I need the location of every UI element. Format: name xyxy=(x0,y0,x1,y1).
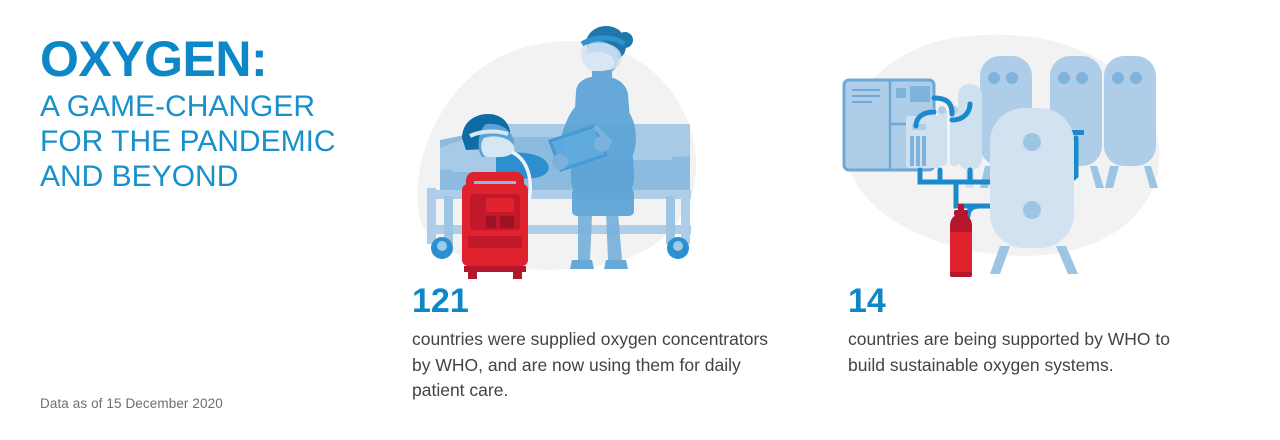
hospital-bed-oxygen-concentrator-illustration xyxy=(400,20,720,285)
oxygen-concentrator xyxy=(462,172,528,279)
vessel-port-lower xyxy=(1023,201,1041,219)
concentrator-grill xyxy=(468,236,522,248)
subtitle-line-2: FOR THE PANDEMIC xyxy=(40,124,380,159)
page-subtitle: A GAME-CHANGER FOR THE PANDEMIC AND BEYO… xyxy=(40,89,380,194)
tank-1-gauge-left xyxy=(988,72,1000,84)
vessel-leg-right xyxy=(1056,246,1078,274)
tank-2-gauge-left xyxy=(1058,72,1070,84)
cylinder-body xyxy=(950,232,972,276)
concentrator-base xyxy=(464,266,526,272)
filter-column-2 xyxy=(938,108,947,166)
tank-3-gauge-left xyxy=(1112,72,1124,84)
filter-column-3 xyxy=(950,108,959,166)
stat-number-14: 14 xyxy=(848,284,1178,318)
cylinder-base xyxy=(950,272,972,277)
stat-text-oxygen-systems: countries are being supported by WHO to … xyxy=(848,327,1178,378)
stat-block-concentrators: 121 countries were supplied oxygen conce… xyxy=(412,284,772,404)
worker-hand-right xyxy=(594,136,610,152)
bed-wheel-left-hub xyxy=(437,241,447,251)
worker-shoe-left xyxy=(570,260,594,269)
concentrator-foot-right xyxy=(513,272,522,279)
infographic-page: OXYGEN: A GAME-CHANGER FOR THE PANDEMIC … xyxy=(0,0,1280,440)
tank-2-gauge-right xyxy=(1076,72,1088,84)
worker-hand-left xyxy=(552,154,568,170)
worker-shoe-right xyxy=(604,260,628,269)
bed-leg-inner-left xyxy=(444,196,453,244)
data-as-of-note: Data as of 15 December 2020 xyxy=(40,396,223,411)
subtitle-line-1: A GAME-CHANGER xyxy=(40,89,380,124)
concentrator-vent-left xyxy=(486,216,496,228)
concentrator-vent-right xyxy=(500,216,514,228)
cabinet-screen xyxy=(910,86,930,102)
concentrator-display xyxy=(486,198,514,212)
stat-block-oxygen-systems: 14 countries are being supported by WHO … xyxy=(848,284,1178,378)
concentrator-foot-left xyxy=(468,272,477,279)
tank-1-gauge-right xyxy=(1006,72,1018,84)
stat-number-121: 121 xyxy=(412,284,772,318)
headline-block: OXYGEN: A GAME-CHANGER FOR THE PANDEMIC … xyxy=(40,34,380,194)
worker-hips xyxy=(572,188,634,216)
stat-text-concentrators: countries were supplied oxygen concentra… xyxy=(412,327,772,404)
bed-leg-inner-right xyxy=(666,196,675,244)
cabinet-indicator xyxy=(896,88,906,98)
subtitle-line-3: AND BEYOND xyxy=(40,159,380,194)
oxygen-plant-illustration xyxy=(830,20,1180,285)
tank-3-gauge-right xyxy=(1130,72,1142,84)
filter-column-1 xyxy=(926,108,935,166)
page-title: OXYGEN: xyxy=(40,34,380,85)
vessel-port-upper xyxy=(1023,133,1041,151)
bed-wheel-right-hub xyxy=(673,241,683,251)
worker-leg-left xyxy=(578,212,592,260)
